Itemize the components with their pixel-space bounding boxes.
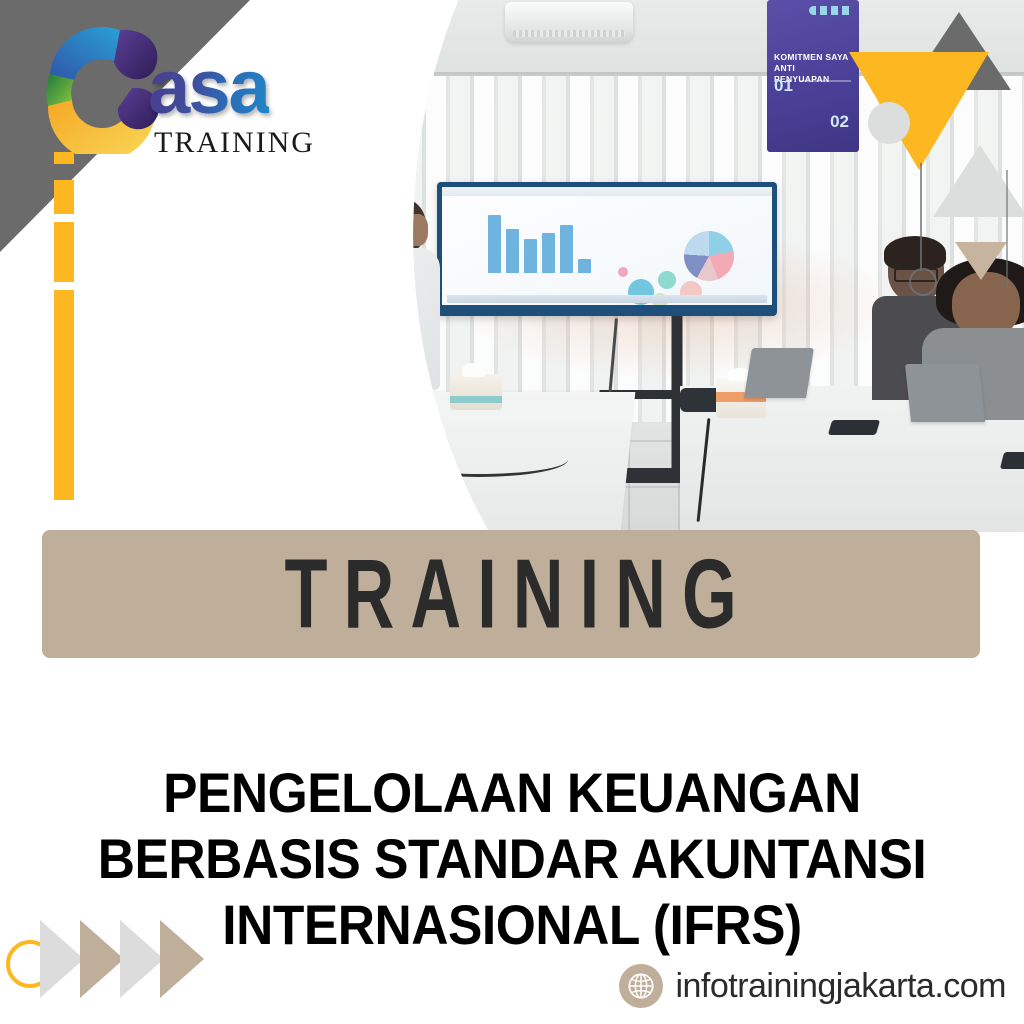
standee-rule bbox=[799, 80, 851, 82]
circle-gray-icon bbox=[868, 102, 910, 144]
phone-2 bbox=[1000, 452, 1024, 469]
presenter-person bbox=[358, 198, 444, 448]
chevron-arrows-icon bbox=[18, 920, 198, 998]
laptop-1 bbox=[744, 348, 814, 398]
chevron-2 bbox=[80, 920, 124, 998]
pendant-ring-icon bbox=[909, 268, 937, 296]
dash-bar-3 bbox=[54, 222, 74, 282]
standee-number-1: 01 bbox=[774, 76, 793, 96]
website-url[interactable]: infotrainingjakarta.com bbox=[675, 967, 1006, 1006]
website-footer[interactable]: infotrainingjakarta.com bbox=[619, 964, 1006, 1008]
dash-bar-2 bbox=[54, 180, 74, 214]
presentation-display bbox=[437, 182, 777, 316]
title-line-2: BERBASIS STANDAR AKUNTANSI bbox=[41, 826, 983, 892]
chevron-4 bbox=[160, 920, 204, 998]
training-banner-label: TRAINING bbox=[269, 537, 753, 651]
logo-wordmark: asa bbox=[148, 54, 269, 122]
standee-headline-1: KOMITMEN SAYA bbox=[774, 52, 849, 62]
anti-bribery-standee: KOMITMEN SAYA ANTI PENYUAPAN 01 02 bbox=[767, 0, 859, 152]
display-screen bbox=[442, 187, 772, 305]
presenter-badge bbox=[388, 302, 404, 315]
screen-taskbar bbox=[447, 295, 767, 303]
brand-logo: asa TRAINING bbox=[28, 14, 328, 154]
pendant-line-1 bbox=[920, 163, 922, 271]
presenter-shirt bbox=[358, 248, 440, 390]
pie-chart bbox=[684, 231, 734, 281]
bar-chart bbox=[488, 211, 591, 273]
logo-subtitle: TRAINING bbox=[154, 126, 315, 160]
phone-1 bbox=[828, 420, 880, 435]
presenter-lanyard bbox=[388, 252, 401, 304]
training-banner: TRAINING bbox=[42, 530, 980, 658]
standee-number-2: 02 bbox=[830, 112, 849, 132]
triangle-tan-icon bbox=[955, 242, 1007, 280]
triangle-white-icon bbox=[933, 145, 1024, 217]
standee-dots bbox=[809, 6, 853, 15]
chevron-3 bbox=[120, 920, 164, 998]
tissue-box-left bbox=[450, 374, 502, 410]
title-line-1: PENGELOLAAN KEUANGAN bbox=[41, 760, 983, 826]
dash-bar-4 bbox=[54, 290, 74, 500]
presenter-face bbox=[404, 214, 428, 246]
presenter-trousers bbox=[370, 384, 426, 450]
dash-bar-1 bbox=[54, 152, 74, 164]
training-poster: KOMITMEN SAYA ANTI PENYUAPAN 01 02 bbox=[0, 0, 1024, 1024]
chevron-1 bbox=[40, 920, 84, 998]
laptop-2 bbox=[905, 364, 985, 422]
globe-icon bbox=[619, 964, 663, 1008]
pendant-line-2 bbox=[1006, 170, 1008, 288]
air-conditioner-icon bbox=[505, 2, 633, 42]
screen-toolbar bbox=[442, 187, 772, 196]
